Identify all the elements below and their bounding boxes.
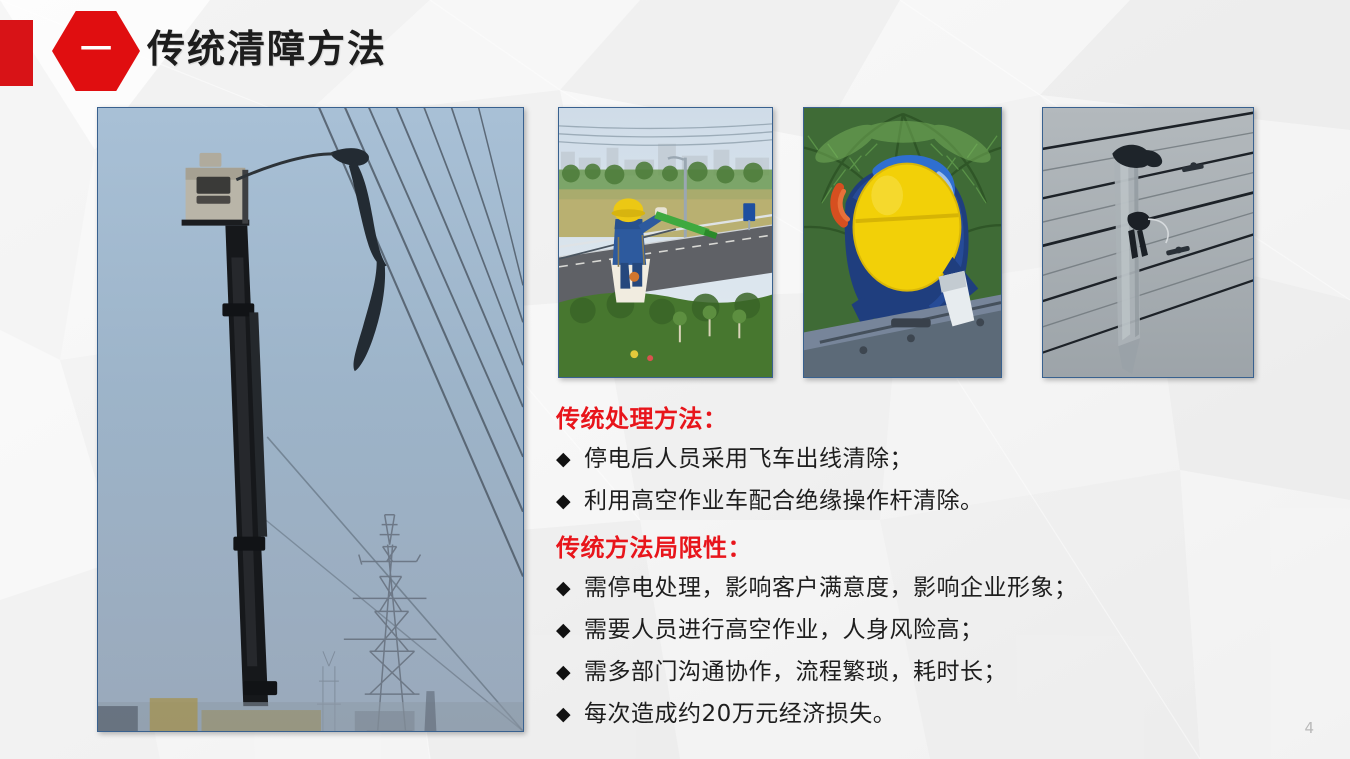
list-item-text: 需停电处理，影响客户满意度，影响企业形象； (584, 567, 1176, 609)
list-item-text: 每次造成约20万元经济损失。 (584, 693, 1176, 735)
list-item-text: 停电后人员采用飞车出线清除； (584, 438, 1176, 480)
section-heading-traditional-methods: 传统处理方法： (556, 402, 1176, 436)
aerial-lift-bucket-illustration (98, 108, 523, 731)
page-title: 传统清障方法 (147, 23, 387, 75)
list-item-text: 需多部门沟通协作，流程繁琐，耗时长； (584, 651, 1176, 693)
diamond-bullet-icon: ◆ (556, 693, 584, 735)
debris-on-lines-illustration (1043, 108, 1253, 377)
photo-worker-bending-over-equipment (803, 107, 1002, 378)
list-item: ◆ 需停电处理，影响客户满意度，影响企业形象； (556, 567, 1176, 609)
list-item-text: 需要人员进行高空作业，人身风险高； (584, 609, 1176, 651)
section-number-label: 一 (81, 35, 112, 66)
photo-worker-on-line-cart (558, 107, 773, 378)
worker-bending-illustration (804, 108, 1001, 377)
list-item: ◆ 每次造成约20万元经济损失。 (556, 693, 1176, 735)
list-item-text: 利用高空作业车配合绝缘操作杆清除。 (584, 480, 1176, 522)
slide-header: 一 传统清障方法 (0, 0, 1350, 100)
diamond-bullet-icon: ◆ (556, 609, 584, 651)
list-item: ◆ 需要人员进行高空作业，人身风险高； (556, 609, 1176, 651)
list-item: ◆ 需多部门沟通协作，流程繁琐，耗时长； (556, 651, 1176, 693)
hexagon-shape: 一 (52, 11, 140, 91)
photo-debris-on-power-lines (1042, 107, 1254, 378)
section-heading-limitations: 传统方法局限性： (556, 531, 1176, 565)
diamond-bullet-icon: ◆ (556, 480, 584, 522)
list-item: ◆ 停电后人员采用飞车出线清除； (556, 438, 1176, 480)
worker-line-cart-illustration (559, 108, 772, 377)
diamond-bullet-icon: ◆ (556, 651, 584, 693)
content-text-column: 传统处理方法： ◆ 停电后人员采用飞车出线清除； ◆ 利用高空作业车配合绝缘操作… (556, 402, 1176, 735)
page-number: 4 (1304, 719, 1314, 737)
diamond-bullet-icon: ◆ (556, 567, 584, 609)
red-edge-tab (0, 20, 33, 86)
photo-aerial-lift-bucket (97, 107, 524, 732)
list-item: ◆ 利用高空作业车配合绝缘操作杆清除。 (556, 480, 1176, 522)
slide-canvas: 一 传统清障方法 (0, 0, 1350, 759)
section-number-badge: 一 (52, 11, 140, 91)
diamond-bullet-icon: ◆ (556, 438, 584, 480)
